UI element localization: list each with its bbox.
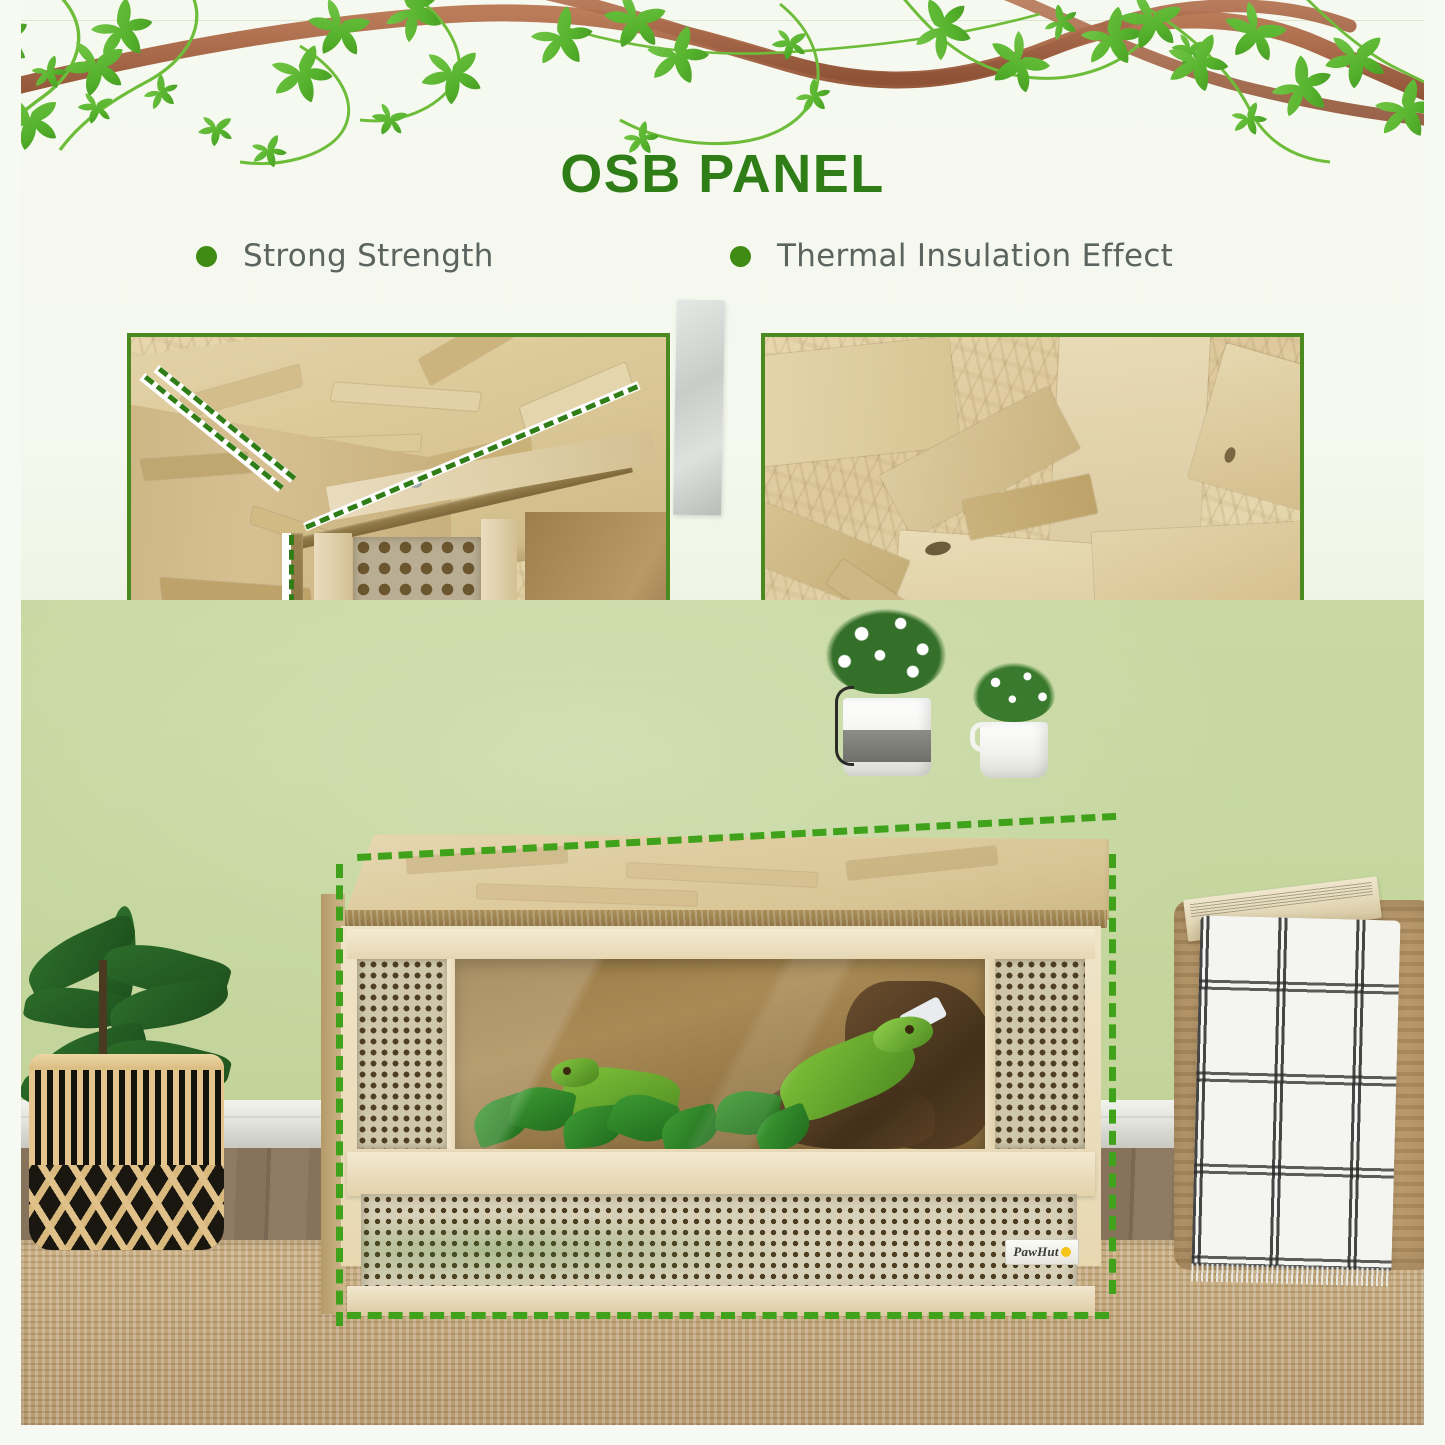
osb-top-panel [327, 834, 1109, 920]
bullet-dot-icon [196, 246, 217, 267]
pawhut-brand-badge: PawHut [1005, 1239, 1079, 1265]
basket-rim [29, 1054, 224, 1070]
page-title: OSB PANEL [0, 143, 1445, 205]
mug-handle [970, 722, 991, 752]
feature-bullet-list: Strong Strength Thermal Insulation Effec… [0, 238, 1445, 286]
left-page-margin [0, 0, 21, 1445]
feature-bullet-label: Thermal Insulation Effect [777, 238, 1173, 274]
perforated-metal-bottom-vent [361, 1194, 1077, 1294]
basket-woven-lattice [29, 1165, 224, 1250]
pine-frame-top-rail [347, 929, 1095, 959]
glass-reflection [455, 959, 985, 1149]
osb-highlight-dash-bottom [347, 1312, 1109, 1319]
basket-vertical-slats [29, 1070, 224, 1165]
rattan-basket-planter [29, 1054, 224, 1250]
wooden-reptile-terrarium: PawHut [321, 834, 1116, 1289]
right-page-margin [1424, 0, 1445, 1445]
perforated-metal-side-vent-left [357, 959, 449, 1149]
bucket-handle [835, 686, 854, 766]
flower-pot-small [966, 662, 1062, 778]
packaging-bag-prop [673, 300, 725, 516]
osb-highlight-dash-left [336, 864, 343, 1326]
feature-bullet-thermal-insulation: Thermal Insulation Effect [730, 238, 1173, 274]
pine-frame-middle-rail [347, 1152, 1095, 1196]
flower-pot-large [821, 606, 951, 776]
bullet-dot-icon [730, 246, 751, 267]
perforated-metal-side-vent-right [993, 959, 1085, 1149]
main-product-photo: PawHut [21, 600, 1424, 1425]
fiddle-leaf-plant [29, 930, 224, 1250]
osb-highlight-dash-right [1109, 854, 1116, 1294]
glass-viewing-panel [455, 959, 985, 1149]
plaid-throw-blanket [1191, 915, 1400, 1270]
bottom-page-margin [0, 1425, 1445, 1445]
pawhut-brand-label: PawHut [1013, 1244, 1058, 1260]
feature-bullet-strong-strength: Strong Strength [196, 238, 494, 274]
white-bucket-pot [843, 698, 931, 776]
sun-icon [1061, 1247, 1071, 1257]
feature-bullet-label: Strong Strength [243, 238, 494, 274]
poster-canvas: OSB PANEL Strong Strength Thermal Insula… [0, 0, 1445, 1445]
